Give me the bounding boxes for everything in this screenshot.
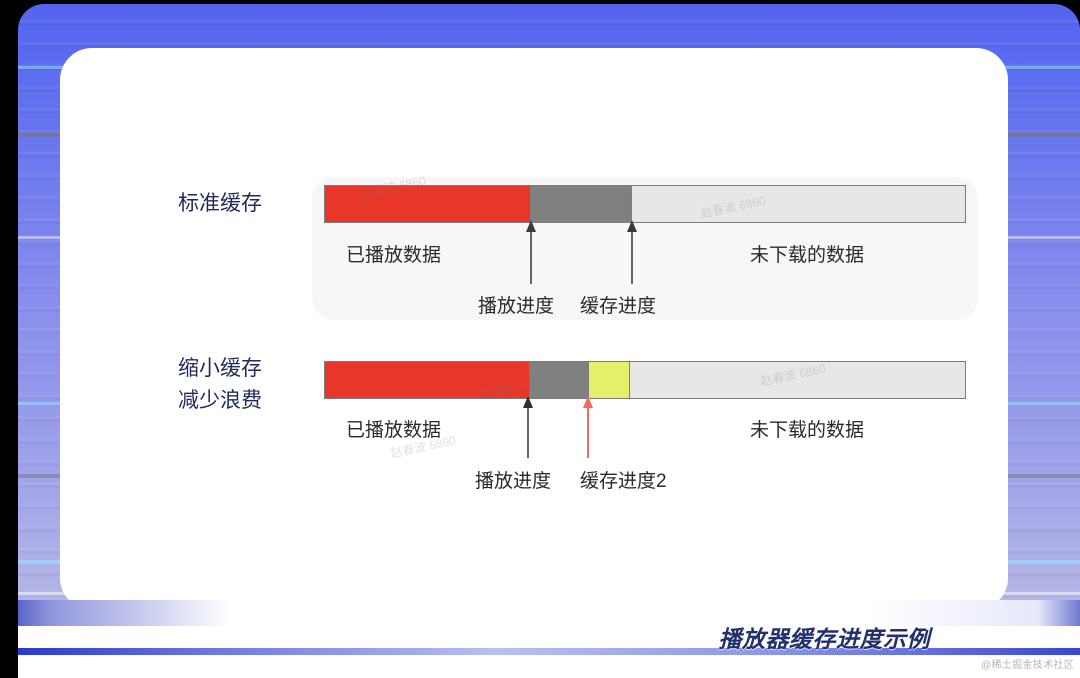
row-2-annotation-buffer2: 缓存进度2 xyxy=(580,466,667,493)
figure-caption: 播放器缓存进度示例 xyxy=(0,620,1062,654)
site-watermark: @稀土掘金技术社区 xyxy=(981,656,1074,671)
content-card: 标准缓存 已播放数据 未下载的数据 播放进度 缓存进度 缩小缓存 减少浪费 xyxy=(60,48,1008,610)
bottom-white-footer xyxy=(18,655,1080,678)
screenshot-root: 标准缓存 已播放数据 未下载的数据 播放进度 缓存进度 缩小缓存 减少浪费 xyxy=(0,0,1080,678)
top-black-margin xyxy=(0,0,1080,4)
row-2-arrows xyxy=(60,48,1008,610)
row-2-annotation-play: 播放进度 xyxy=(475,466,551,493)
left-black-margin xyxy=(0,0,18,678)
